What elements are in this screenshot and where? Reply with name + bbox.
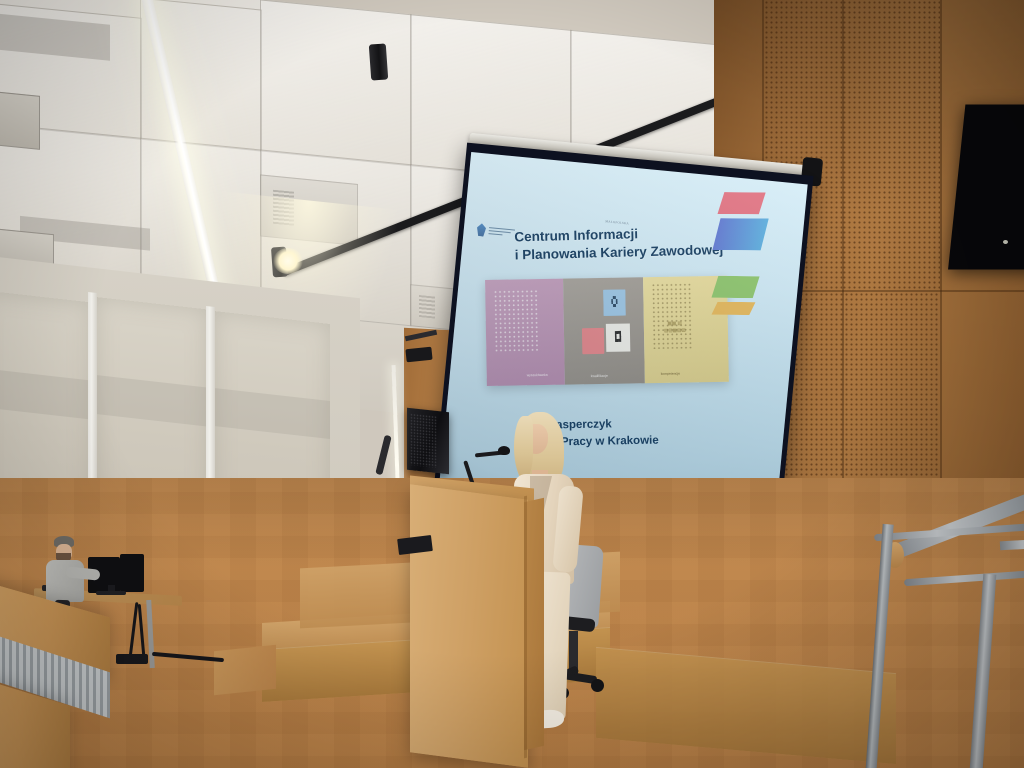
chevron-blue-shape [712,218,768,250]
chevron-pink-shape [717,192,765,214]
crest-label: MAŁOPOLSKA [605,219,629,225]
logo-mark-icon [476,223,486,237]
podium-side-panel [524,498,544,751]
institution-logo-left [476,223,515,240]
slide-panel-grey-caption: kwalifikacje [591,374,608,378]
wall-speaker[interactable] [407,408,449,474]
microphone-capsule [498,446,510,455]
chevron-yellow-shape [711,302,755,315]
slide-panel-purple-caption: wyszukiwarka [527,373,548,377]
slide-panel-purple: wyszukiwarka [485,279,565,386]
slide-panel-grey: ▞▚▚▞ ▛▜▙▟ kwalifikacje [563,277,645,384]
slide-title: Centrum Informacji i Planowania Kariery … [514,223,723,264]
railing-balustrade-panel [1000,539,1024,551]
presenter-hair-front [514,416,533,478]
mini-square-red [582,328,604,354]
technician-torso [46,560,84,602]
crest-icon [605,209,607,226]
podium-edge-highlight [524,496,527,759]
podium-front-panel[interactable] [410,484,528,768]
railing-post-mid [969,574,997,768]
display-power-led [1003,240,1008,244]
slide-panel-yellow-caption: kompetencje [661,372,680,376]
spotlight-glow [273,248,303,274]
ceiling-camera [405,347,432,363]
slide-panel-yellow-text: ▩▩ ▨▧▨▩▧▨ [664,320,686,334]
stage-step [214,645,276,696]
track-spotlight-far [369,43,388,80]
glyph-box-bottom: ▛▜▙▟ [606,323,630,351]
chevron-green-shape [711,276,759,298]
logo-wordmark [488,227,515,237]
railing-post-left [865,524,893,768]
desk-monitor-right[interactable] [120,554,144,592]
glyph-box-top: ▞▚▚▞ [603,290,625,316]
railing-mid-rail [904,569,1024,586]
floor-power-brick [116,654,148,664]
stair-railing[interactable] [860,470,1024,768]
lecture-hall-photo: MAŁOPOLSKA Centrum Informacji i Planowan… [0,0,1024,768]
chevron-graphic-stack [690,181,801,349]
